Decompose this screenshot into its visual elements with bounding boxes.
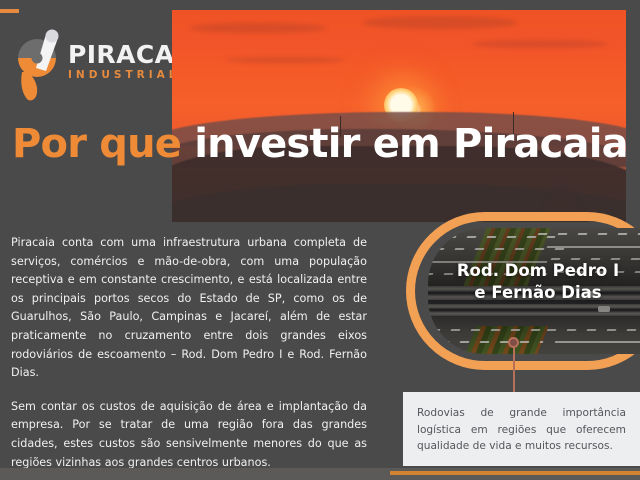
poster-canvas: PIRACAIA INDUSTRIAL Por que investir em … — [0, 0, 640, 480]
article-paragraph-2: Sem contar os custos de aquisição de áre… — [11, 398, 367, 472]
brand-logo: PIRACAIA INDUSTRIAL — [14, 24, 174, 102]
highway-label-line-2: e Fernão Dias — [436, 282, 640, 304]
article-body: Piracaia conta com uma infraestrutura ur… — [11, 234, 367, 472]
brand-logo-text: PIRACAIA INDUSTRIAL — [68, 42, 174, 81]
article-paragraph-1: Piracaia conta com uma infraestrutura ur… — [11, 234, 367, 383]
caption-card: Rodovias de grande importância logística… — [403, 392, 640, 466]
caption-text: Rodovias de grande importância logística… — [417, 405, 626, 455]
brand-tagline: INDUSTRIAL — [68, 70, 174, 81]
cloud-shape — [363, 16, 517, 29]
headline-accent: Por que — [12, 121, 181, 167]
highway-label-line-1: Rod. Dom Pedro I — [436, 260, 640, 282]
headline-main: investir em Piracaia — [194, 121, 628, 167]
page-title: Por que investir em Piracaia — [12, 124, 628, 164]
cloud-shape — [226, 57, 344, 63]
piracaia-p-mark-icon — [14, 28, 68, 102]
top-left-accent-bar — [0, 9, 19, 13]
connector-line — [513, 347, 515, 395]
highway-label: Rod. Dom Pedro I e Fernão Dias — [436, 260, 640, 304]
sunset-hero-photo — [172, 10, 626, 222]
cloud-shape — [472, 40, 608, 48]
bottom-accent-bar — [390, 471, 640, 475]
brand-name: PIRACAIA — [68, 42, 174, 67]
